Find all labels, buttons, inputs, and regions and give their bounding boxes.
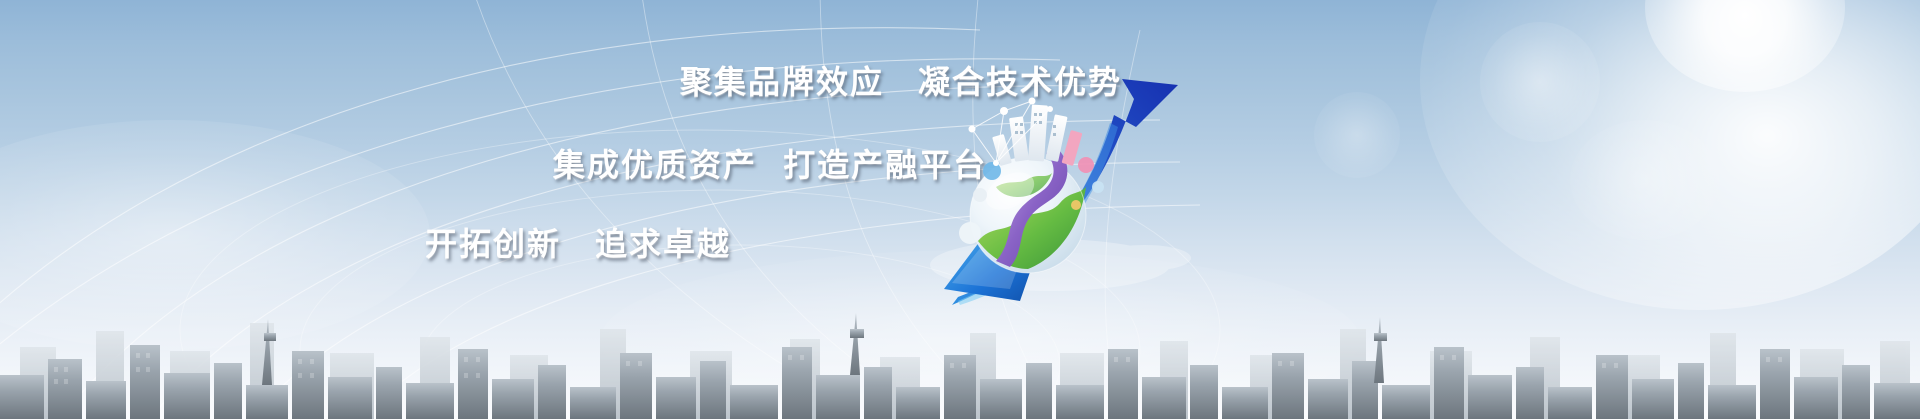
slogan-line-3: 开拓创新 追求卓越: [425, 219, 731, 265]
city-skyline-silhouette: [0, 289, 1920, 419]
globe-and-arrow-graphic: [900, 75, 1220, 310]
hero-banner: 聚集品牌效应 凝合技术优势 集成优质资产 打造产融平台 开拓创新 追求卓越: [0, 0, 1920, 419]
